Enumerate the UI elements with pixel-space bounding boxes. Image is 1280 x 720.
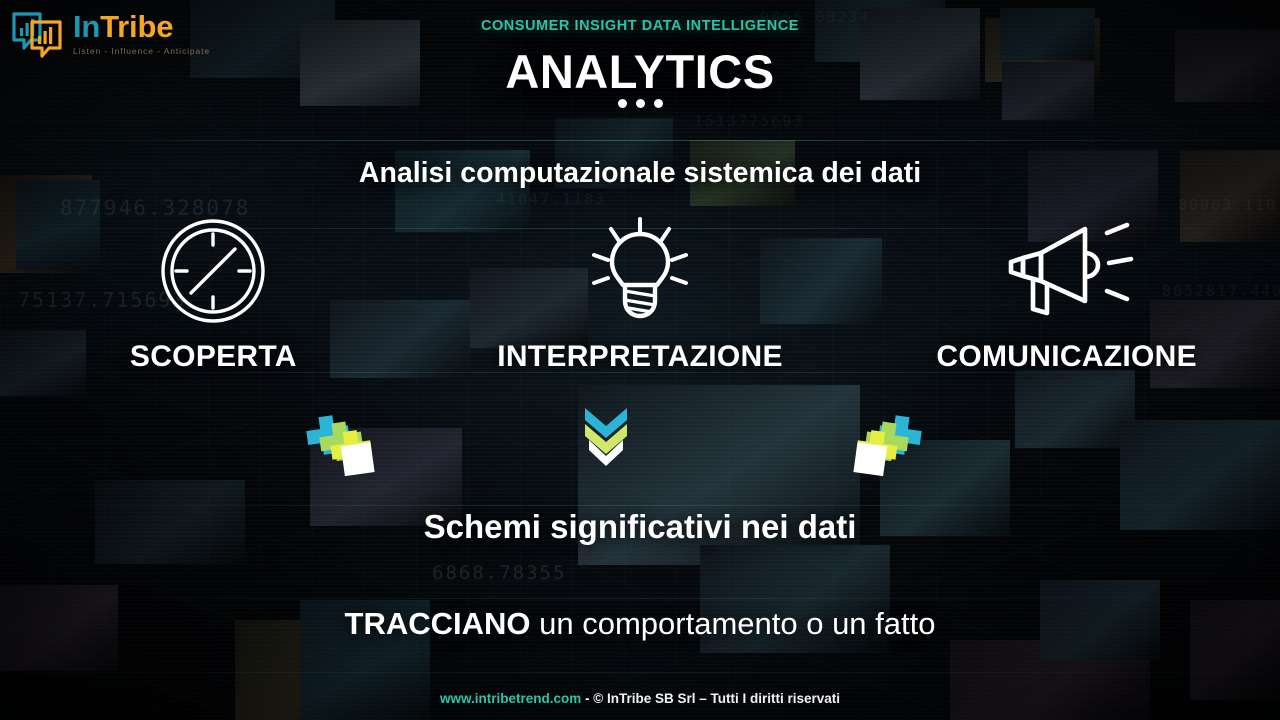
lcd-number: 6868.78355: [432, 562, 566, 584]
lightbulb-icon: [588, 216, 692, 326]
pillar-interpretazione[interactable]: INTERPRETAZIONE: [427, 216, 854, 374]
pillar-comunicazione[interactable]: COMUNICAZIONE: [853, 216, 1280, 374]
brand-wordmark: InTribe Listen - Influence - Anticipate: [73, 11, 210, 56]
statement-line-a: Schemi significativi nei dati: [0, 508, 1280, 546]
lcd-number: 1513775693: [694, 112, 804, 130]
statement-line-b-normal: un comportamento o un fatto: [531, 606, 936, 641]
footer-website-link[interactable]: www.intribetrend.com: [440, 691, 581, 706]
stacked-plus-shapes-mirrored-icon: [845, 412, 923, 489]
brand-tagline: Listen - Influence - Anticipate: [73, 46, 210, 56]
collage-tile: [950, 640, 1150, 720]
footer-copyright: - © InTribe SB Srl – Tutti I diritti ris…: [581, 691, 840, 706]
pillar-label: COMUNICAZIONE: [936, 340, 1197, 374]
triple-chevron-down-icon: [583, 404, 629, 475]
megaphone-icon: [999, 216, 1135, 326]
brand-logo[interactable]: InTribe Listen - Influence - Anticipate: [10, 8, 210, 58]
collage-tile: [1015, 370, 1135, 448]
dot: [654, 99, 663, 108]
pillar-label: INTERPRETAZIONE: [497, 340, 783, 374]
pillar-scoperta[interactable]: SCOPERTA: [0, 216, 427, 374]
logo-word-in: In: [73, 9, 100, 44]
dot: [636, 99, 645, 108]
slide-canvas: 877946.328078 75137.715693 6868.78355 80…: [0, 0, 1280, 720]
compass-icon: [159, 216, 267, 326]
pillars-row: SCOPERTA: [0, 216, 1280, 374]
stacked-plus-shapes-icon: [305, 412, 383, 489]
lcd-number: 41047.1183: [496, 190, 606, 208]
title-dots-separator: [0, 99, 1280, 108]
lcd-number: 80063.110: [1178, 196, 1277, 214]
subtitle-text: Analisi computazionale sistemica dei dat…: [0, 157, 1280, 190]
statement-line-b: TRACCIANO un comportamento o un fatto: [0, 606, 1280, 642]
footer: www.intribetrend.com - © InTribe SB Srl …: [0, 691, 1280, 706]
dot: [618, 99, 627, 108]
logo-word-tribe: Tribe: [100, 9, 173, 44]
pillar-label: SCOPERTA: [130, 340, 297, 374]
statement-line-b-strong: TRACCIANO: [345, 606, 531, 641]
speech-bubbles-bar-chart-icon: [10, 8, 64, 58]
